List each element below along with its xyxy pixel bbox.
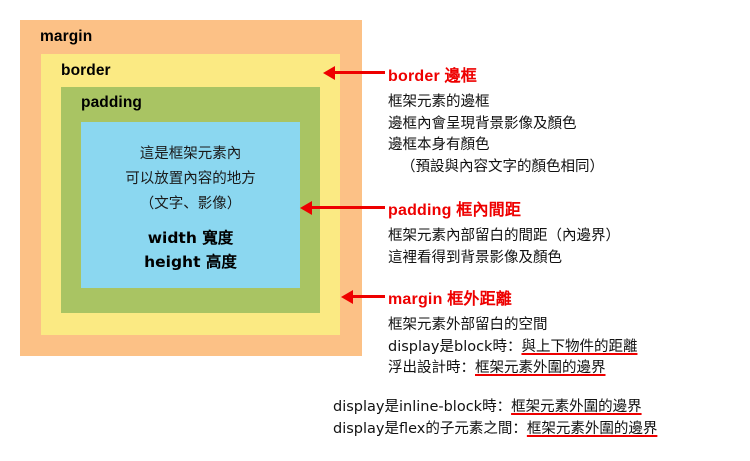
- annotation-border-line-1: 框架元素的邊框: [388, 94, 490, 110]
- margin-arrow-icon: [352, 295, 385, 298]
- margin-box-label: margin: [40, 28, 92, 46]
- annotation-padding-title: padding 框內間距: [388, 196, 620, 220]
- padding-box-label: padding: [81, 94, 142, 112]
- annotation-padding-body: 框架元素內部留白的間距（內邊界） 這裡看得到背景影像及顏色: [388, 226, 620, 269]
- annotation-margin: margin 框外距離 框架元素外部留白的空間 display是block時：與…: [388, 285, 637, 380]
- padding-box: padding 這是框架元素內 可以放置內容的地方 （文字、影像） width …: [61, 87, 320, 313]
- annotation-border-line-4: （預設與內容文字的顏色相同）: [388, 157, 604, 179]
- annotation-padding-line-1: 框架元素內部留白的間距（內邊界）: [388, 228, 620, 244]
- padding-arrow-icon: [311, 206, 385, 209]
- annotation-padding-line-2: 這裡看得到背景影像及顏色: [388, 250, 562, 266]
- annotation-margin-line-2-underlined: 與上下物件的距離: [521, 339, 637, 355]
- margin-box: margin border padding 這是框架元素內 可以放置內容的地方 …: [20, 20, 362, 356]
- annotation-border-body: 框架元素的邊框 邊框內會呈現背景影像及顏色 邊框本身有顏色 （預設與內容文字的顏…: [388, 92, 604, 178]
- annotation-margin-line-2-prefix: display是block時：: [388, 339, 521, 355]
- annotation-border-title: border 邊框: [388, 62, 604, 86]
- margin-extra-line-2-underlined: 框架元素外圍的邊界: [527, 421, 658, 437]
- annotation-margin-title: margin 框外距離: [388, 285, 637, 309]
- annotation-padding: padding 框內間距 框架元素內部留白的間距（內邊界） 這裡看得到背景影像及…: [388, 196, 620, 269]
- margin-extra-line-2-prefix: display是flex的子元素之間：: [333, 421, 527, 437]
- annotation-border-line-2: 邊框內會呈現背景影像及顏色: [388, 116, 577, 132]
- annotation-border: border 邊框 框架元素的邊框 邊框內會呈現背景影像及顏色 邊框本身有顏色 …: [388, 62, 604, 178]
- content-line-1: 這是框架元素內: [140, 146, 242, 162]
- annotation-border-line-3: 邊框本身有顏色: [388, 137, 490, 153]
- annotation-margin-extra: display是inline-block時：框架元素外圍的邊界 display是…: [333, 396, 657, 440]
- annotation-margin-body: 框架元素外部留白的空間 display是block時：與上下物件的距離 浮出設計…: [388, 315, 637, 380]
- content-height-label: height 高度: [81, 250, 300, 274]
- content-line-3: （文字、影像）: [140, 196, 242, 212]
- annotation-margin-line-3-underlined: 框架元素外圍的邊界: [475, 360, 606, 376]
- annotation-margin-line-3-prefix: 浮出設計時：: [388, 360, 475, 376]
- content-box-text: 這是框架元素內 可以放置內容的地方 （文字、影像） width 寬度 heigh…: [81, 142, 300, 274]
- content-box: 這是框架元素內 可以放置內容的地方 （文字、影像） width 寬度 heigh…: [81, 122, 300, 288]
- border-box: border padding 這是框架元素內 可以放置內容的地方 （文字、影像）…: [41, 54, 340, 335]
- margin-extra-line-1-underlined: 框架元素外圍的邊界: [511, 399, 642, 415]
- content-line-2: 可以放置內容的地方: [125, 171, 256, 187]
- annotation-margin-line-1: 框架元素外部留白的空間: [388, 317, 548, 333]
- box-model-diagram-page: margin border padding 這是框架元素內 可以放置內容的地方 …: [0, 0, 750, 461]
- border-arrow-icon: [334, 71, 385, 74]
- margin-extra-line-1-prefix: display是inline-block時：: [333, 399, 511, 415]
- content-width-label: width 寬度: [81, 226, 300, 250]
- border-box-label: border: [61, 62, 111, 80]
